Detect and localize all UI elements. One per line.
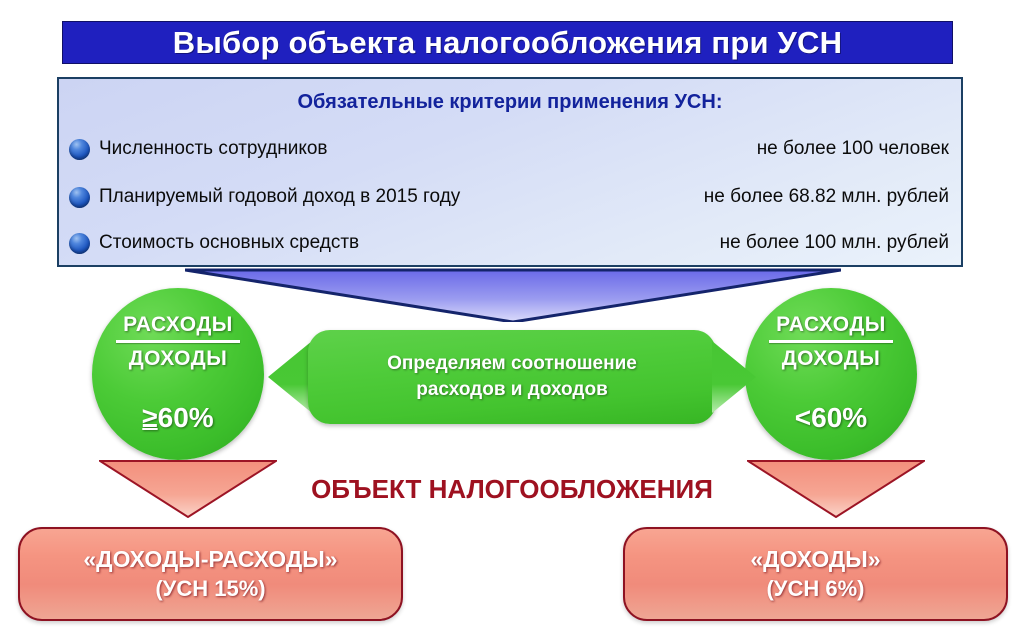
blue-sphere-bullet-icon <box>69 233 90 254</box>
fraction-bar <box>769 340 893 343</box>
banner-line-1: Определяем соотношение <box>387 351 637 377</box>
fraction-numerator: РАСХОДЫ <box>745 312 917 337</box>
threshold-left: ≥60% <box>92 402 264 434</box>
threshold-operator: < <box>795 402 811 433</box>
criteria-panel: Обязательные критерии применения УСН: Чи… <box>57 77 963 267</box>
criteria-row: Численность сотрудников не более 100 чел… <box>69 135 949 163</box>
page-title-bar: Выбор объекта налогообложения при УСН <box>62 21 953 64</box>
criteria-value: не более 68.82 млн. рублей <box>460 186 949 208</box>
result-name: «ДОХОДЫ» <box>750 544 880 574</box>
fraction-right: РАСХОДЫ ДОХОДЫ <box>745 312 917 371</box>
arrow-left-icon-green <box>268 341 312 413</box>
result-box-income: «ДОХОДЫ» (УСН 6%) <box>623 527 1008 621</box>
infographic-canvas: Выбор объекта налогообложения при УСН Об… <box>0 0 1024 640</box>
threshold-operator: ≥ <box>142 402 157 433</box>
result-rate: (УСН 15%) <box>155 574 265 604</box>
criteria-label: Стоимость основных средств <box>99 232 359 254</box>
fraction-numerator: РАСХОДЫ <box>92 312 264 337</box>
result-rate: (УСН 6%) <box>766 574 864 604</box>
criteria-label: Численность сотрудников <box>99 138 328 160</box>
threshold-right: <60% <box>745 402 917 434</box>
fraction-denominator: ДОХОДЫ <box>745 346 917 371</box>
ratio-circle-left: РАСХОДЫ ДОХОДЫ ≥60% <box>92 288 264 460</box>
ratio-circle-right: РАСХОДЫ ДОХОДЫ <60% <box>745 288 917 460</box>
threshold-value: 60% <box>158 402 214 433</box>
ratio-decision-banner: Определяем соотношение расходов и доходо… <box>268 330 756 424</box>
fraction-denominator: ДОХОДЫ <box>92 346 264 371</box>
blue-sphere-bullet-icon <box>69 187 90 208</box>
result-box-income-minus-expenses: «ДОХОДЫ-РАСХОДЫ» (УСН 15%) <box>18 527 403 621</box>
banner-body: Определяем соотношение расходов и доходо… <box>308 330 716 424</box>
criteria-label: Планируемый годовой доход в 2015 году <box>99 186 460 208</box>
fraction-left: РАСХОДЫ ДОХОДЫ <box>92 312 264 371</box>
arrow-right-icon-green <box>712 341 756 413</box>
criteria-value: не более 100 человек <box>328 138 949 160</box>
criteria-row: Планируемый годовой доход в 2015 году не… <box>69 183 949 211</box>
criteria-value: не более 100 млн. рублей <box>359 232 949 254</box>
criteria-heading: Обязательные критерии применения УСН: <box>59 91 961 114</box>
object-of-taxation-heading: ОБЪЕКТ НАЛОГООБЛОЖЕНИЯ <box>0 474 1024 505</box>
criteria-row: Стоимость основных средств не более 100 … <box>69 229 949 257</box>
page-title: Выбор объекта налогообложения при УСН <box>173 25 842 61</box>
arrow-down-icon-blue <box>185 268 841 322</box>
blue-sphere-bullet-icon <box>69 139 90 160</box>
banner-line-2: расходов и доходов <box>416 377 608 403</box>
fraction-bar <box>116 340 240 343</box>
result-name: «ДОХОДЫ-РАСХОДЫ» <box>83 544 337 574</box>
threshold-value: 60% <box>811 402 867 433</box>
